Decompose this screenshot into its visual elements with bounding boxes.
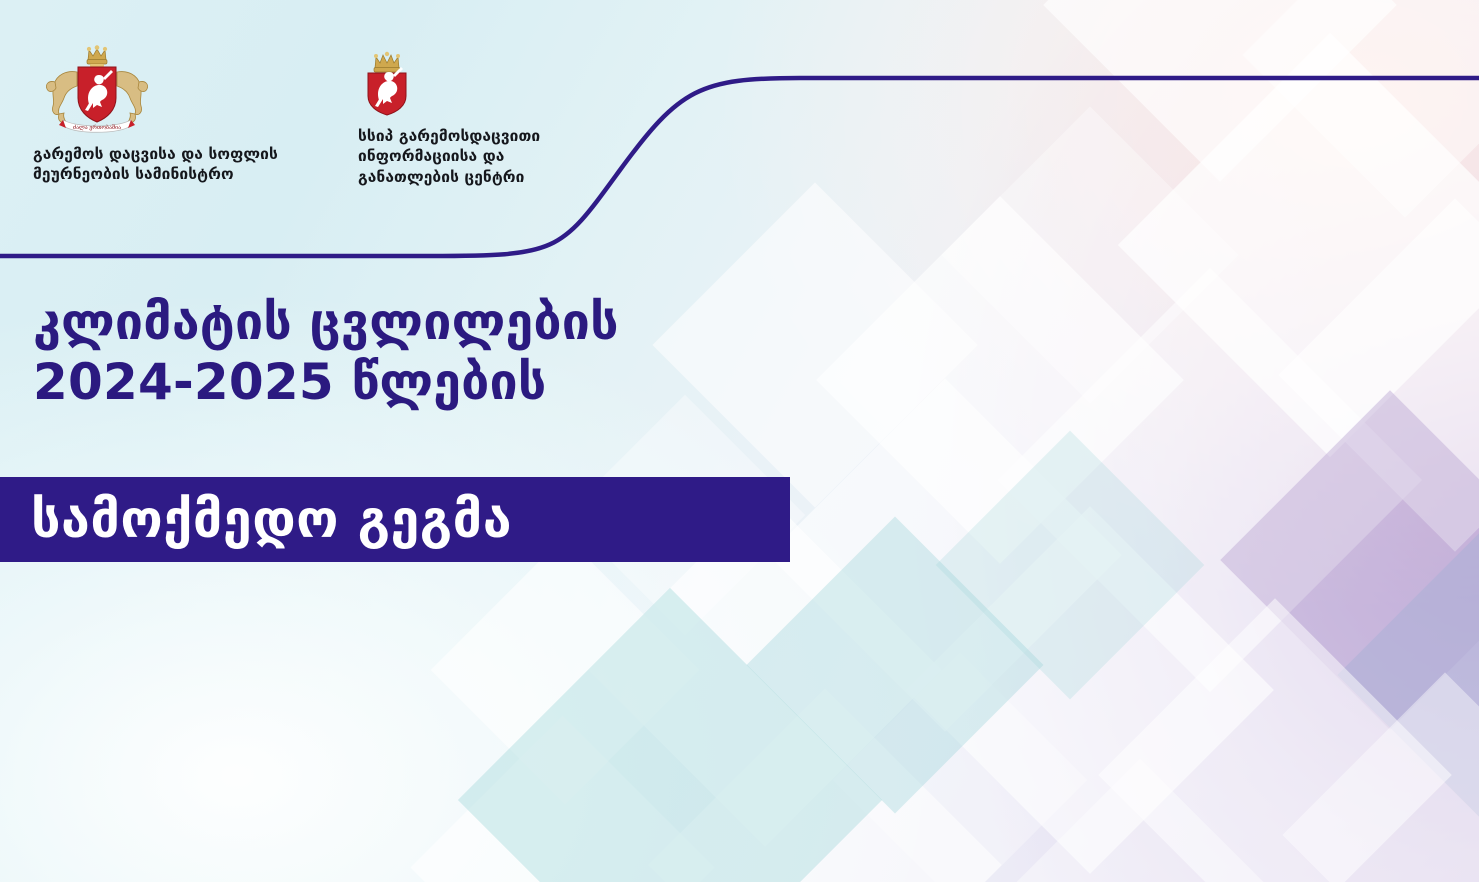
decor-diamond xyxy=(410,715,714,882)
ministry-name: გარემოს დაცვისა და სოფლის მეურნეობის სამ… xyxy=(33,144,333,184)
center-name: სსიპ გარემოსდაცვითი ინფორმაციისა და განა… xyxy=(358,126,618,187)
report-cover: ძალა ერთობაშია გარემოს დაცვისა და სოფლის… xyxy=(0,0,1479,882)
header-logos: ძალა ერთობაშია გარემოს დაცვისა და სოფლის… xyxy=(0,0,700,210)
decor-diamond xyxy=(747,517,1044,814)
decor-diamond xyxy=(1220,390,1479,729)
page-title: კლიმატის ცვლილების 2024-2025 წლების xyxy=(33,292,933,412)
decor-diamond xyxy=(648,688,1002,882)
georgia-coat-of-arms-shield-icon xyxy=(358,48,618,120)
decor-diamond xyxy=(1098,598,1452,882)
decor-diamond xyxy=(768,378,1122,732)
decor-diamond xyxy=(936,431,1205,700)
center-logo-block: სსიპ გარემოსდაცვითი ინფორმაციისა და განა… xyxy=(358,48,618,187)
decor-diamond xyxy=(833,653,1088,882)
ministry-logo-block: ძალა ერთობაშია გარემოს დაცვისა და სოფლის… xyxy=(33,42,333,184)
decor-diamond xyxy=(458,588,882,882)
action-plan-banner-label: სამოქმედო გეგმა xyxy=(0,494,512,546)
decor-diamond xyxy=(906,506,1274,874)
decor-diamond xyxy=(1282,672,1479,882)
georgia-coat-of-arms-full-icon: ძალა ერთობაშია xyxy=(33,42,333,138)
decor-diamond xyxy=(431,536,700,805)
decor-diamond xyxy=(1337,512,1479,837)
svg-text:ძალა ერთობაშია: ძალა ერთობაშია xyxy=(73,124,121,131)
decor-diamond xyxy=(999,759,1282,882)
decor-diamond xyxy=(998,268,1422,692)
action-plan-banner: სამოქმედო გეგმა xyxy=(0,477,790,562)
